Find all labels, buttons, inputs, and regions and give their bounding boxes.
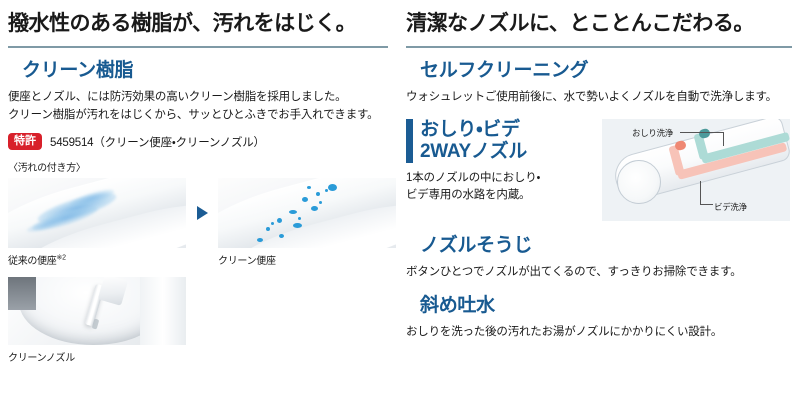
section-2way-nozzle: おしり・ビデ 2WAYノズル 1本のノズルの中におしり・ ビデ専用の水路を内蔵。 <box>406 119 792 221</box>
body-line-2: クリーン樹脂が汚れをはじくから、サッとひとふきでお手入れできます。 <box>8 107 396 125</box>
comparison-arrow-cell <box>186 178 218 248</box>
section-angled-spray-title: 斜め吐水 <box>420 295 495 317</box>
leader-line <box>700 204 713 205</box>
patent-number: 5459514（クリーン便座・クリーンノズル） <box>50 134 265 150</box>
nozzle-cross-section-diagram: おしり洗浄 ビデ洗浄 <box>602 119 790 221</box>
heading-accent-bar-icon <box>406 119 413 163</box>
section-2way-nozzle-heading: おしり・ビデ 2WAYノズル <box>406 119 602 163</box>
nozzle-end-cap <box>617 160 661 204</box>
section-clean-resin-body: 便座とノズル、には防汚効果の高いクリーン樹脂を採用しました。 クリーン樹脂が汚れ… <box>8 89 396 124</box>
conventional-seat-photo <box>8 178 186 248</box>
title-line-2: 2WAYノズル <box>420 141 527 163</box>
left-column: 撥水性のある樹脂が、汚れをはじく。 クリーン樹脂 便座とノズル、には防汚効果の高… <box>0 0 396 400</box>
clean-nozzle-caption: クリーンノズル <box>8 349 186 364</box>
section-nozzle-cleaning: ノズルそうじ ボタンひとつでノズルが出てくるので、すっきりお掃除できます。 <box>406 235 792 282</box>
section-2way-nozzle-title: おしり・ビデ 2WAYノズル <box>420 119 527 163</box>
section-nozzle-cleaning-body: ボタンひとつでノズルが出てくるので、すっきりお掃除できます。 <box>406 264 792 282</box>
section-self-cleaning-heading: セルフクリーニング <box>406 60 792 82</box>
leader-line <box>680 132 724 133</box>
body-line-1: 1本のノズルの中におしり・ <box>406 170 602 188</box>
title-line-1: おしり・ビデ <box>420 119 527 141</box>
right-column: 清潔なノズルに、とことんこだわる。 セルフクリーニング ウォシュレットご使用前後… <box>396 0 800 400</box>
water-droplet <box>279 234 284 238</box>
water-droplet <box>298 217 301 220</box>
water-droplet <box>293 223 302 228</box>
clean-seat-photo <box>218 178 396 248</box>
clean-nozzle-cell: クリーンノズル <box>8 277 186 364</box>
bowl-shadow <box>8 277 36 310</box>
patent-row: 特許 5459514（クリーン便座・クリーンノズル） <box>8 133 396 150</box>
clean-nozzle-photo <box>8 277 186 345</box>
section-self-cleaning-body: ウォシュレットご使用前後に、水で勢いよくノズルを自動で洗浄します。 <box>406 89 792 107</box>
clean-seat-caption: クリーン便座 <box>218 252 396 267</box>
left-page-headline: 撥水性のある樹脂が、汚れをはじく。 <box>8 0 396 37</box>
section-clean-resin-title: クリーン樹脂 <box>22 60 133 82</box>
water-droplet <box>316 192 320 196</box>
section-nozzle-cleaning-title: ノズルそうじ <box>420 235 532 257</box>
right-page-headline: 清潔なノズルに、とことんこだわる。 <box>406 0 792 37</box>
seat-edge <box>140 277 186 345</box>
diagram-label-rear-wash: おしり洗浄 <box>632 127 673 139</box>
section-clean-resin-heading: クリーン樹脂 <box>8 60 396 82</box>
section-angled-spray-heading: 斜め吐水 <box>406 295 792 317</box>
water-droplet <box>302 197 308 202</box>
section-angled-spray-body: おしりを洗った後の汚れたお湯がノズルにかかりにくい設計。 <box>406 324 792 342</box>
leader-line <box>700 181 701 204</box>
water-droplet <box>325 189 328 192</box>
body-line-2: ビデ専用の水路を内蔵。 <box>406 187 602 205</box>
section-self-cleaning: セルフクリーニング ウォシュレットご使用前後に、水で勢いよくノズルを自動で洗浄し… <box>406 60 792 107</box>
section-self-cleaning-title: セルフクリーニング <box>420 60 588 82</box>
section-nozzle-cleaning-heading: ノズルそうじ <box>406 235 792 257</box>
comparison-photo-row: 従来の便座※2 <box>8 178 396 267</box>
patent-badge: 特許 <box>8 133 42 150</box>
conventional-seat-cell: 従来の便座※2 <box>8 178 186 267</box>
section-2way-nozzle-body: 1本のノズルの中におしり・ ビデ専用の水路を内蔵。 <box>406 170 602 205</box>
dirt-adhesion-label: 〈汚れの付き方〉 <box>8 159 396 174</box>
diagram-label-bidet-wash: ビデ洗浄 <box>714 201 747 213</box>
clean-seat-cell: クリーン便座 <box>218 178 396 267</box>
right-header-divider <box>406 46 792 48</box>
left-header-divider <box>8 46 388 48</box>
conventional-seat-caption: 従来の便座※2 <box>8 252 186 267</box>
nozzle-photo-row: クリーンノズル <box>8 277 396 364</box>
arrow-right-icon <box>197 206 208 220</box>
body-line-1: 便座とノズル、には防汚効果の高いクリーン樹脂を採用しました。 <box>8 89 396 107</box>
water-droplet <box>311 206 318 211</box>
leader-line <box>723 132 724 146</box>
section-2way-nozzle-text: おしり・ビデ 2WAYノズル 1本のノズルの中におしり・ ビデ専用の水路を内蔵。 <box>406 119 602 205</box>
brochure-page: 撥水性のある樹脂が、汚れをはじく。 クリーン樹脂 便座とノズル、には防汚効果の高… <box>0 0 800 400</box>
section-angled-spray: 斜め吐水 おしりを洗った後の汚れたお湯がノズルにかかりにくい設計。 <box>406 295 792 342</box>
water-droplet <box>277 218 282 223</box>
